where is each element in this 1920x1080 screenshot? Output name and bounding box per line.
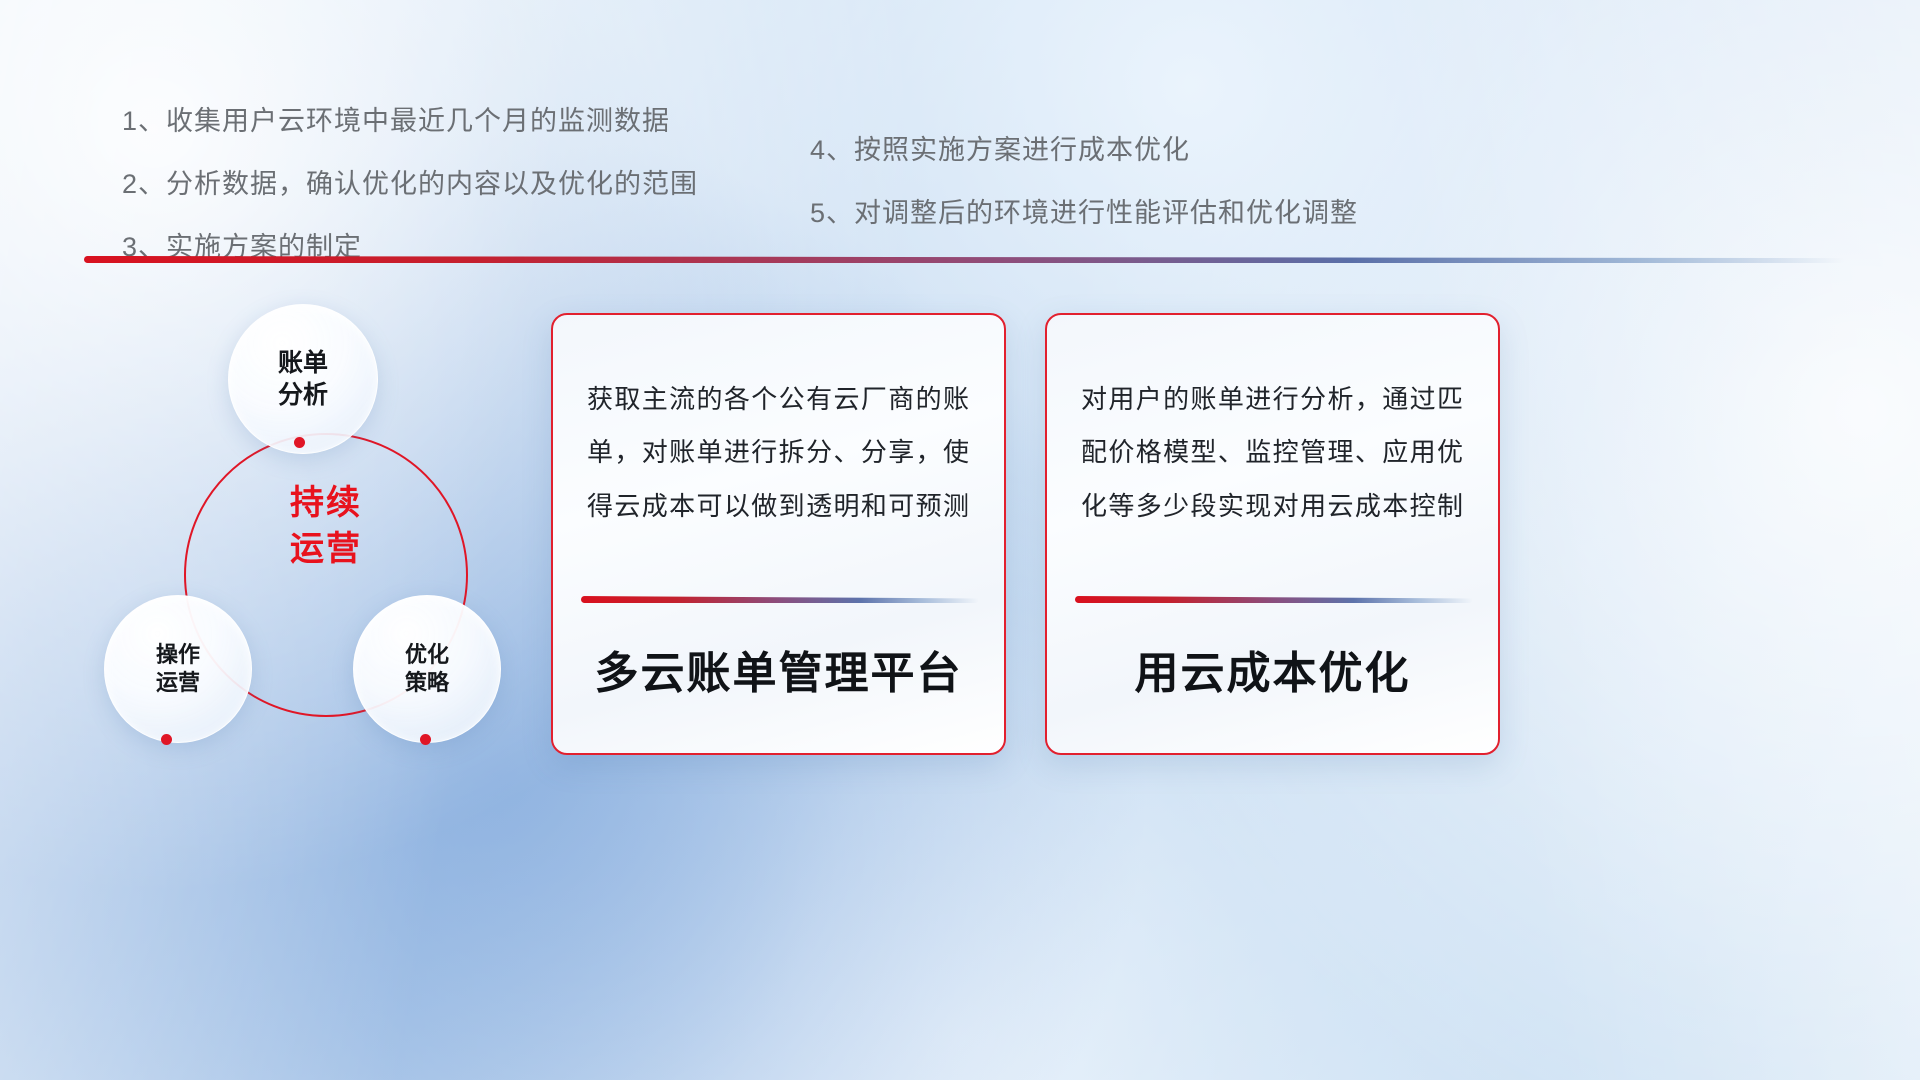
diagram-node-bill-analysis[interactable]: 账单 分析	[228, 304, 378, 454]
node-label-line2: 运营	[156, 669, 200, 697]
node-label-line2: 策略	[405, 669, 449, 697]
diagram-connector-dot-left	[161, 734, 172, 745]
card-body-text: 对用户的账单进行分析，通过匹配价格模型、监控管理、应用优化等多少段实现对用云成本…	[1081, 373, 1464, 533]
slide-stage: 1、收集用户云环境中最近几个月的监测数据 2、分析数据，确认优化的内容以及优化的…	[0, 0, 1920, 1080]
diagram-node-optimization-strategy[interactable]: 优化 策略	[353, 595, 501, 743]
node-label-line1: 优化	[405, 641, 449, 669]
cycle-diagram: 持续 运营 账单 分析 操作 运营 优化 策略	[80, 285, 550, 765]
card-title: 用云成本优化	[1047, 637, 1498, 701]
diagram-node-operations[interactable]: 操作 运营	[104, 595, 252, 743]
diagram-center-label-line1: 持续	[184, 481, 468, 527]
diagram-connector-dot-top	[294, 437, 305, 448]
node-label-line1: 账单	[278, 347, 328, 379]
info-card-cloud-cost-optimization[interactable]: 对用户的账单进行分析，通过匹配价格模型、监控管理、应用优化等多少段实现对用云成本…	[1045, 313, 1500, 755]
diagram-center-label-line2: 运营	[184, 527, 468, 573]
step-item-2: 2、分析数据，确认优化的内容以及优化的范围	[122, 162, 698, 201]
card-accent-rule	[1075, 596, 1473, 603]
diagram-connector-dot-right	[420, 734, 431, 745]
step-item-5: 5、对调整后的环境进行性能评估和优化调整	[810, 191, 1358, 230]
step-item-1: 1、收集用户云环境中最近几个月的监测数据	[122, 99, 698, 138]
step-item-4: 4、按照实施方案进行成本优化	[810, 128, 1358, 167]
node-label-line2: 分析	[278, 379, 328, 411]
info-card-multicloud-billing[interactable]: 获取主流的各个公有云厂商的账单，对账单进行拆分、分享，使得云成本可以做到透明和可…	[551, 313, 1006, 755]
steps-list-right: 4、按照实施方案进行成本优化 5、对调整后的环境进行性能评估和优化调整	[810, 128, 1358, 254]
node-label-line1: 操作	[156, 641, 200, 669]
diagram-center-label: 持续 运营	[184, 481, 468, 573]
card-accent-rule	[581, 596, 979, 603]
card-body-text: 获取主流的各个公有云厂商的账单，对账单进行拆分、分享，使得云成本可以做到透明和可…	[587, 373, 970, 533]
card-title: 多云账单管理平台	[553, 637, 1004, 701]
section-divider	[84, 256, 1844, 263]
